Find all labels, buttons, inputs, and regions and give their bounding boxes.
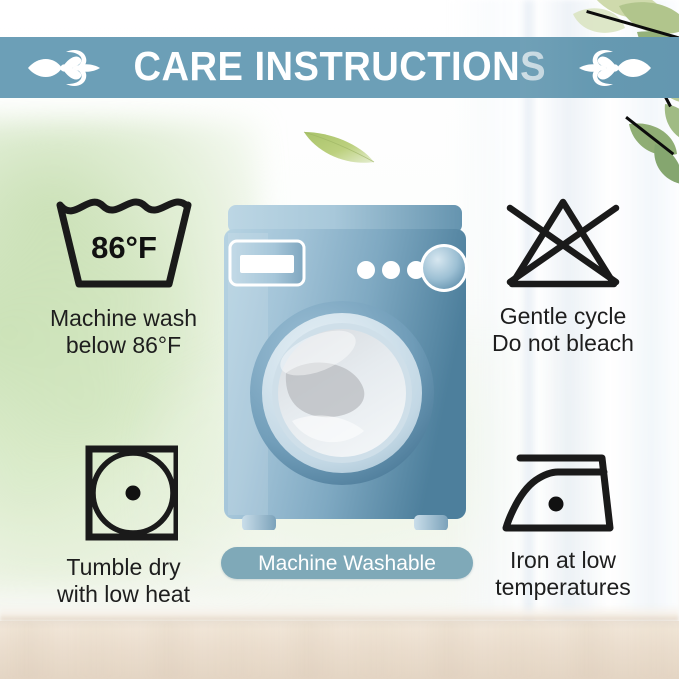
badge-label: Machine Washable	[258, 553, 436, 574]
care-symbol-caption: Machine wash below 86°F	[16, 305, 231, 358]
care-symbol-iron-low: Iron at low temperatures	[448, 450, 678, 600]
caption-line-2: Do not bleach	[448, 330, 678, 357]
header-banner: CARE INSTRUCTIONS	[0, 37, 679, 98]
caption-line-1: Machine wash	[16, 305, 231, 332]
care-symbol-machine-wash: 86°F Machine wash below 86°F	[16, 196, 231, 358]
control-indicator-dots	[357, 261, 425, 279]
care-symbol-caption: Tumble dry with low heat	[16, 554, 231, 607]
care-symbol-caption: Iron at low temperatures	[448, 547, 678, 600]
triangle-crossed-out-icon	[448, 192, 678, 297]
wash-temperature-value: 86°F	[91, 230, 157, 265]
care-symbol-caption: Gentle cycle Do not bleach	[448, 303, 678, 356]
fleur-de-lis-icon-left	[28, 48, 100, 88]
iron-one-dot-icon	[448, 450, 678, 541]
fleur-de-lis-icon-right	[579, 48, 651, 88]
caption-line-2: below 86°F	[16, 332, 231, 359]
wash-tub-icon: 86°F	[16, 196, 231, 299]
control-knob	[420, 244, 468, 292]
machine-washable-badge: Machine Washable	[221, 547, 473, 579]
tumble-dry-square-circle-icon	[16, 443, 231, 548]
care-instructions-infographic: CARE INSTRUCTIONS	[0, 0, 679, 679]
caption-line-2: with low heat	[16, 581, 231, 608]
caption-line-2: temperatures	[448, 574, 678, 601]
detergent-drawer	[230, 241, 304, 285]
floating-leaf-icon	[300, 122, 380, 175]
care-symbol-tumble-dry: Tumble dry with low heat	[16, 443, 231, 607]
machine-door-window	[250, 301, 434, 485]
washing-machine-illustration	[222, 205, 468, 530]
wooden-table-grain	[0, 621, 679, 679]
page-title: CARE INSTRUCTIONS	[133, 46, 546, 89]
caption-line-1: Gentle cycle	[448, 303, 678, 330]
care-symbol-do-not-bleach: Gentle cycle Do not bleach	[448, 192, 678, 356]
caption-line-1: Iron at low	[448, 547, 678, 574]
table-edge	[0, 605, 679, 621]
caption-line-1: Tumble dry	[16, 554, 231, 581]
